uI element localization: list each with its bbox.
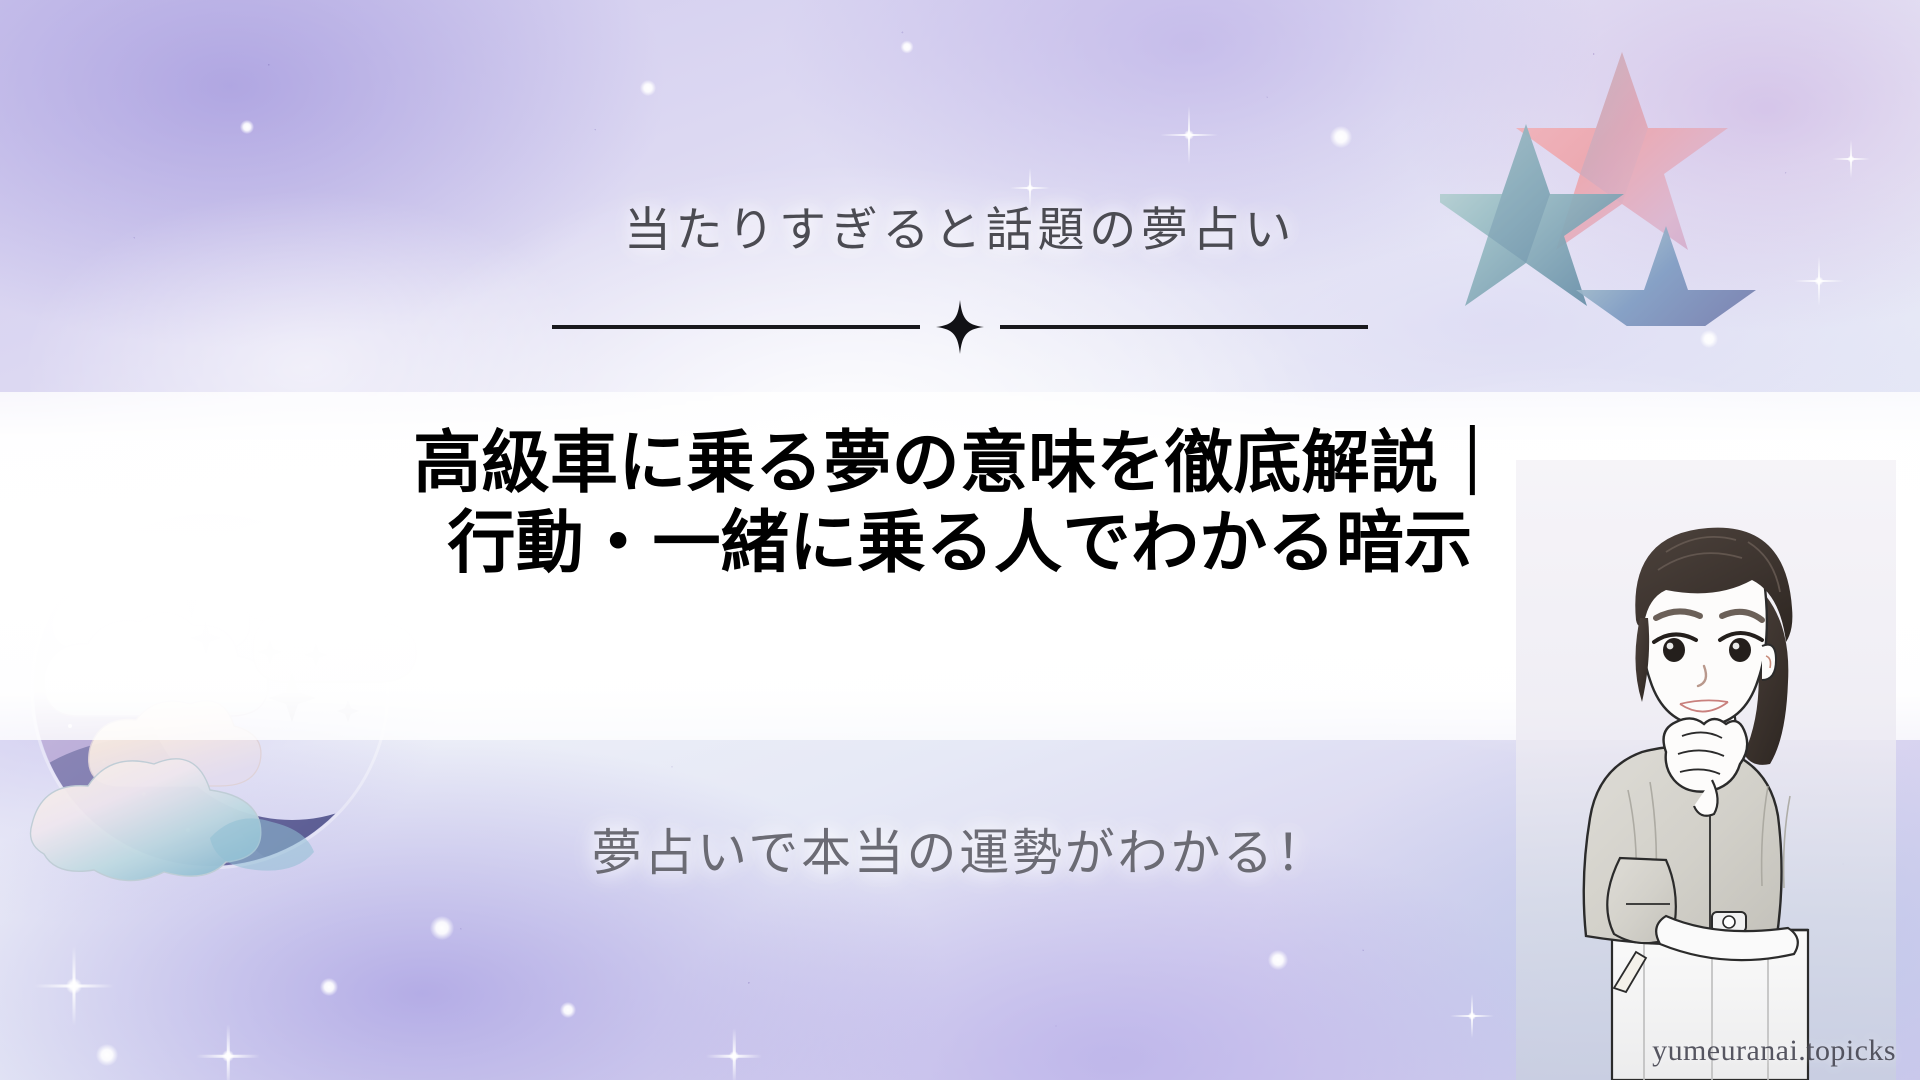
kicker-text: 当たりすぎると話題の夢占い	[0, 208, 1920, 255]
eyecatch-canvas: 当たりすぎると話題の夢占い 高級車に乗る夢の意味を徹底解説｜ 行動・一緒に乗る人…	[0, 0, 1920, 1080]
divider	[0, 300, 1920, 354]
stars-cluster-illustration	[1440, 36, 1780, 326]
woman-illustration	[1516, 460, 1896, 1080]
four-pointed-star-icon	[936, 300, 984, 354]
site-watermark: yumeuranai.topicks	[1652, 1034, 1896, 1068]
divider-rule-left	[552, 325, 920, 329]
divider-rule-right	[1000, 325, 1368, 329]
